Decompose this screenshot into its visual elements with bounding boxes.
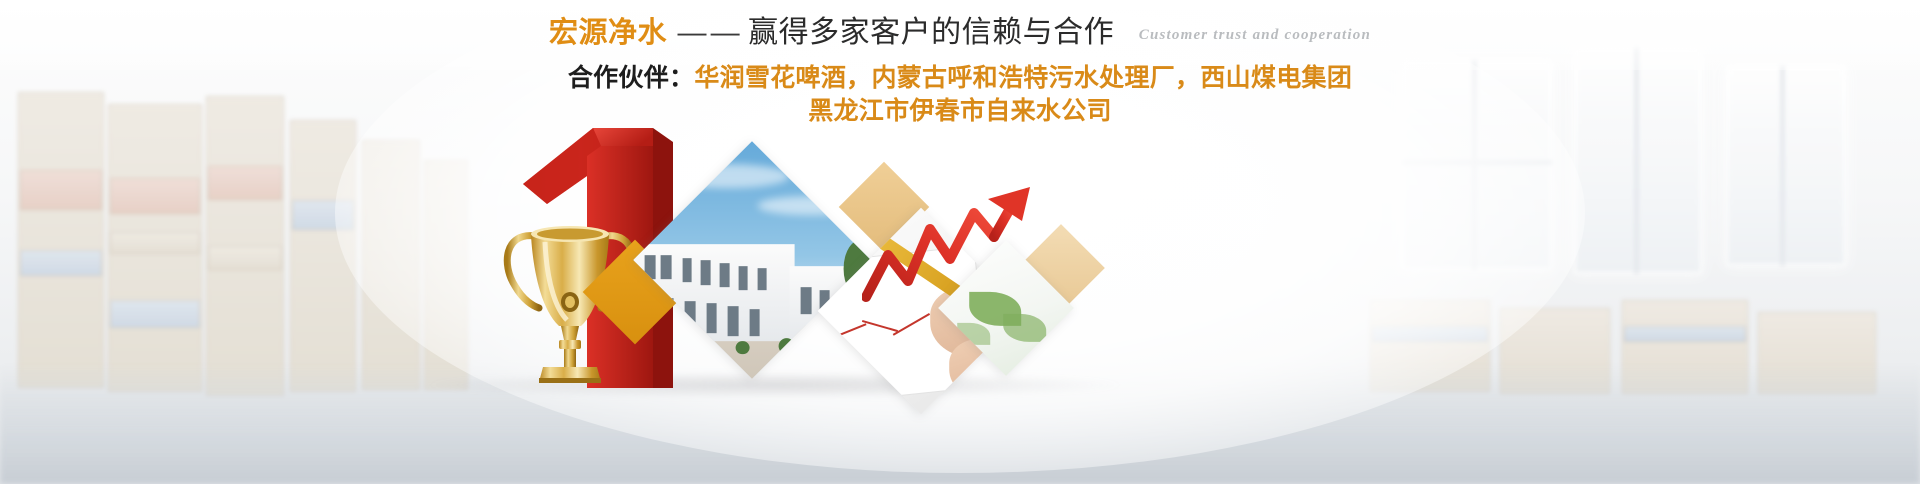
- partners-label: 合作伙伴：: [568, 64, 695, 92]
- headline-english-subtitle: Customer trust and cooperation: [1139, 27, 1371, 43]
- partners-block: 合作伙伴：华润雪花啤酒，内蒙古呼和浩特污水处理厂，西山煤电集团 黑龙江市伊春市自…: [0, 62, 1920, 128]
- promo-banner: 宏源净水 — — 赢得多家客户的信赖与合作 Customer trust and…: [0, 0, 1920, 484]
- headline-dash: — —: [676, 17, 740, 49]
- partners-list-line-2: 黑龙江市伊春市自来水公司: [0, 95, 1920, 128]
- headline: 宏源净水 — — 赢得多家客户的信赖与合作 Customer trust and…: [0, 18, 1920, 48]
- headline-brand: 宏源净水: [549, 17, 667, 49]
- partners-list-line-1: 华润雪花啤酒，内蒙古呼和浩特污水处理厂，西山煤电集团: [694, 64, 1352, 92]
- headline-main: 赢得多家客户的信赖与合作: [748, 16, 1114, 49]
- growth-arrow-icon: [862, 185, 1037, 310]
- partners-line-1: 合作伙伴：华润雪花啤酒，内蒙古呼和浩特污水处理厂，西山煤电集团: [0, 62, 1920, 95]
- banner-text-block: 宏源净水 — — 赢得多家客户的信赖与合作 Customer trust and…: [0, 18, 1920, 128]
